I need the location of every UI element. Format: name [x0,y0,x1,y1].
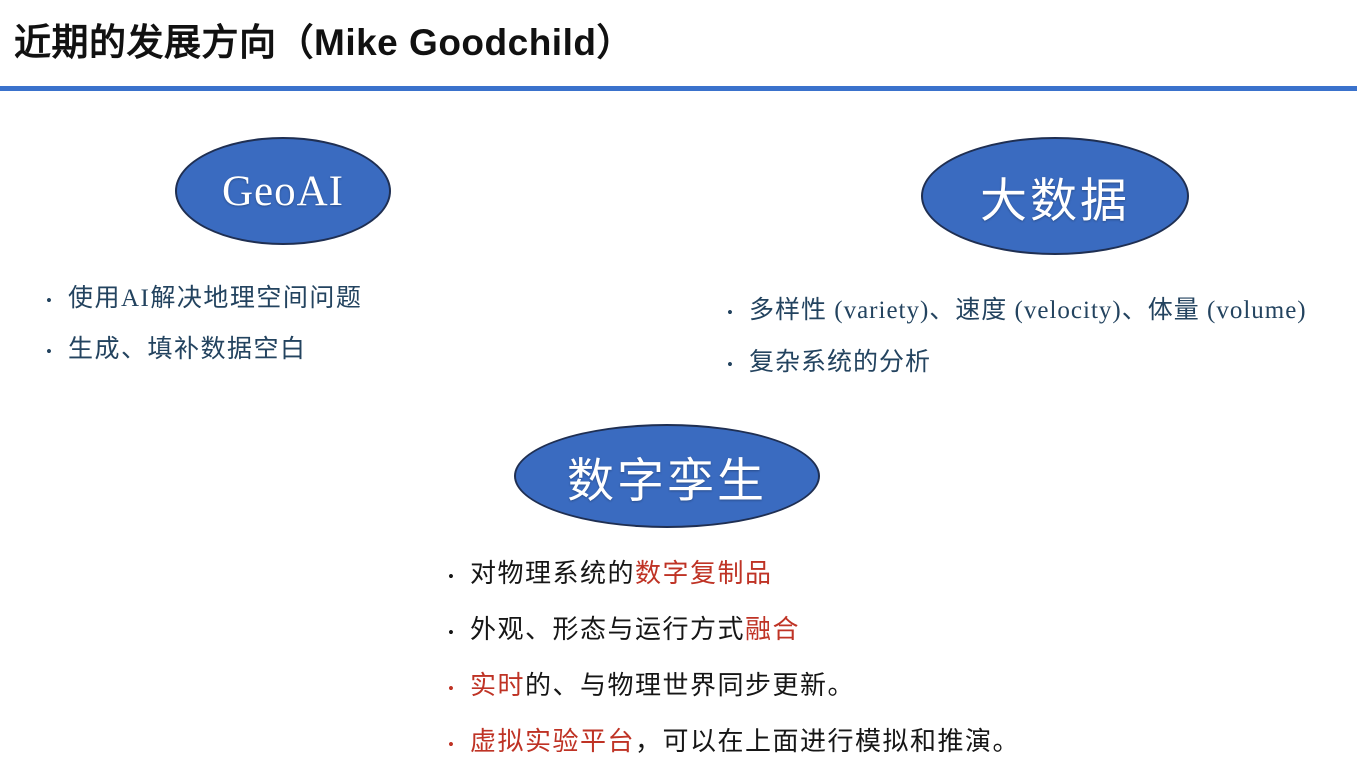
concept-label-geoai: GeoAI [222,167,344,216]
bullet-dot-icon: • [448,568,470,585]
list-item: •外观、形态与运行方式融合 [448,609,1020,646]
list-item: • 多样性 (variety)、速度 (velocity)、体量 (volume… [727,290,1307,326]
list-item-label: 复杂系统的分析 [749,342,931,378]
concept-ellipse-bigdata: 大数据 [921,137,1189,255]
text-segment: ，可以在上面进行模拟和推演。 [635,727,1020,756]
list-item-label: 多样性 (variety)、速度 (velocity)、体量 (volume) [749,290,1307,326]
concept-label-digital-twin: 数字孪生 [567,442,767,511]
list-item-label: 外观、形态与运行方式融合 [470,609,800,646]
list-item-label: 虚拟实验平台，可以在上面进行模拟和推演。 [470,721,1020,758]
bullet-list-geoai: • 使用AI解决地理空间问题 • 生成、填补数据空白 [46,278,362,380]
list-item-label: 使用AI解决地理空间问题 [68,278,362,314]
bullet-dot-icon: • [727,356,749,373]
title-divider-rule [0,86,1357,91]
highlighted-term: 虚拟实验平台 [470,727,635,756]
concept-ellipse-geoai: GeoAI [175,137,391,245]
bullet-dot-icon: • [448,680,470,697]
list-item-label: 对物理系统的数字复制品 [470,553,773,590]
bullet-list-digital-twin: •对物理系统的数字复制品•外观、形态与运行方式融合•实时的、与物理世界同步更新。… [448,553,1020,777]
bullet-dot-icon: • [448,624,470,641]
text-segment: 对物理系统的 [470,559,635,588]
concept-ellipse-digital-twin: 数字孪生 [514,424,820,528]
page-title: 近期的发展方向（Mike Goodchild） [14,12,634,66]
list-item: • 生成、填补数据空白 [46,329,362,365]
list-item: • 复杂系统的分析 [727,342,1307,378]
bullet-dot-icon: • [448,736,470,753]
bullet-dot-icon: • [46,292,68,309]
list-item-label: 实时的、与物理世界同步更新。 [470,665,855,702]
highlighted-term: 数字复制品 [635,559,773,588]
text-segment: 的、与物理世界同步更新。 [525,671,855,700]
highlighted-term: 实时 [470,671,525,700]
list-item: •实时的、与物理世界同步更新。 [448,665,1020,702]
list-item: • 使用AI解决地理空间问题 [46,278,362,314]
bullet-list-bigdata: • 多样性 (variety)、速度 (velocity)、体量 (volume… [727,290,1307,394]
list-item-label: 生成、填补数据空白 [68,329,307,365]
concept-label-bigdata: 大数据 [980,162,1130,231]
highlighted-term: 融合 [745,615,800,644]
bullet-dot-icon: • [46,343,68,360]
list-item: •对物理系统的数字复制品 [448,553,1020,590]
list-item: •虚拟实验平台，可以在上面进行模拟和推演。 [448,721,1020,758]
text-segment: 外观、形态与运行方式 [470,615,745,644]
bullet-dot-icon: • [727,304,749,321]
